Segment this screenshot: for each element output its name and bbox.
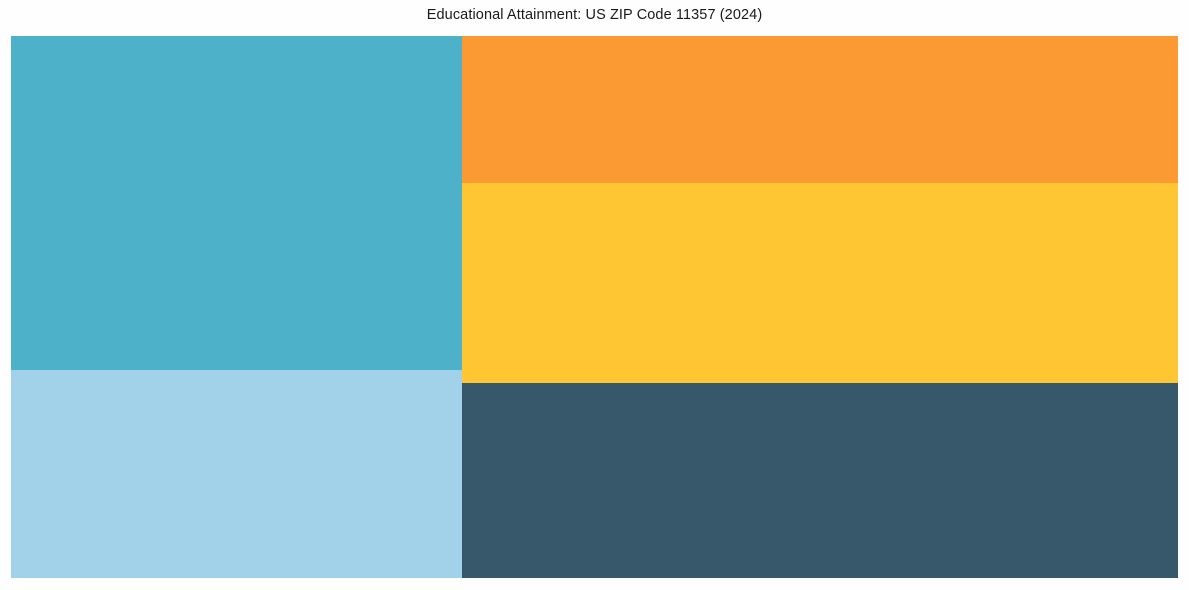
chart-title: Educational Attainment: US ZIP Code 1135…	[0, 0, 1189, 30]
treemap-tile[interactable]: Bachelor's degree or higher	[11, 36, 462, 370]
treemap-tile[interactable]: Some college, no degree	[462, 383, 1178, 578]
treemap-plot-area: Bachelor's degree or higherGraduate or p…	[11, 36, 1178, 578]
treemap-tile[interactable]: High school graduate	[462, 183, 1178, 383]
treemap-tile[interactable]: Graduate or professional degree	[462, 36, 1178, 183]
treemap-figure: Educational Attainment: US ZIP Code 1135…	[0, 0, 1189, 590]
treemap-tile[interactable]: Less than high school	[11, 370, 462, 578]
